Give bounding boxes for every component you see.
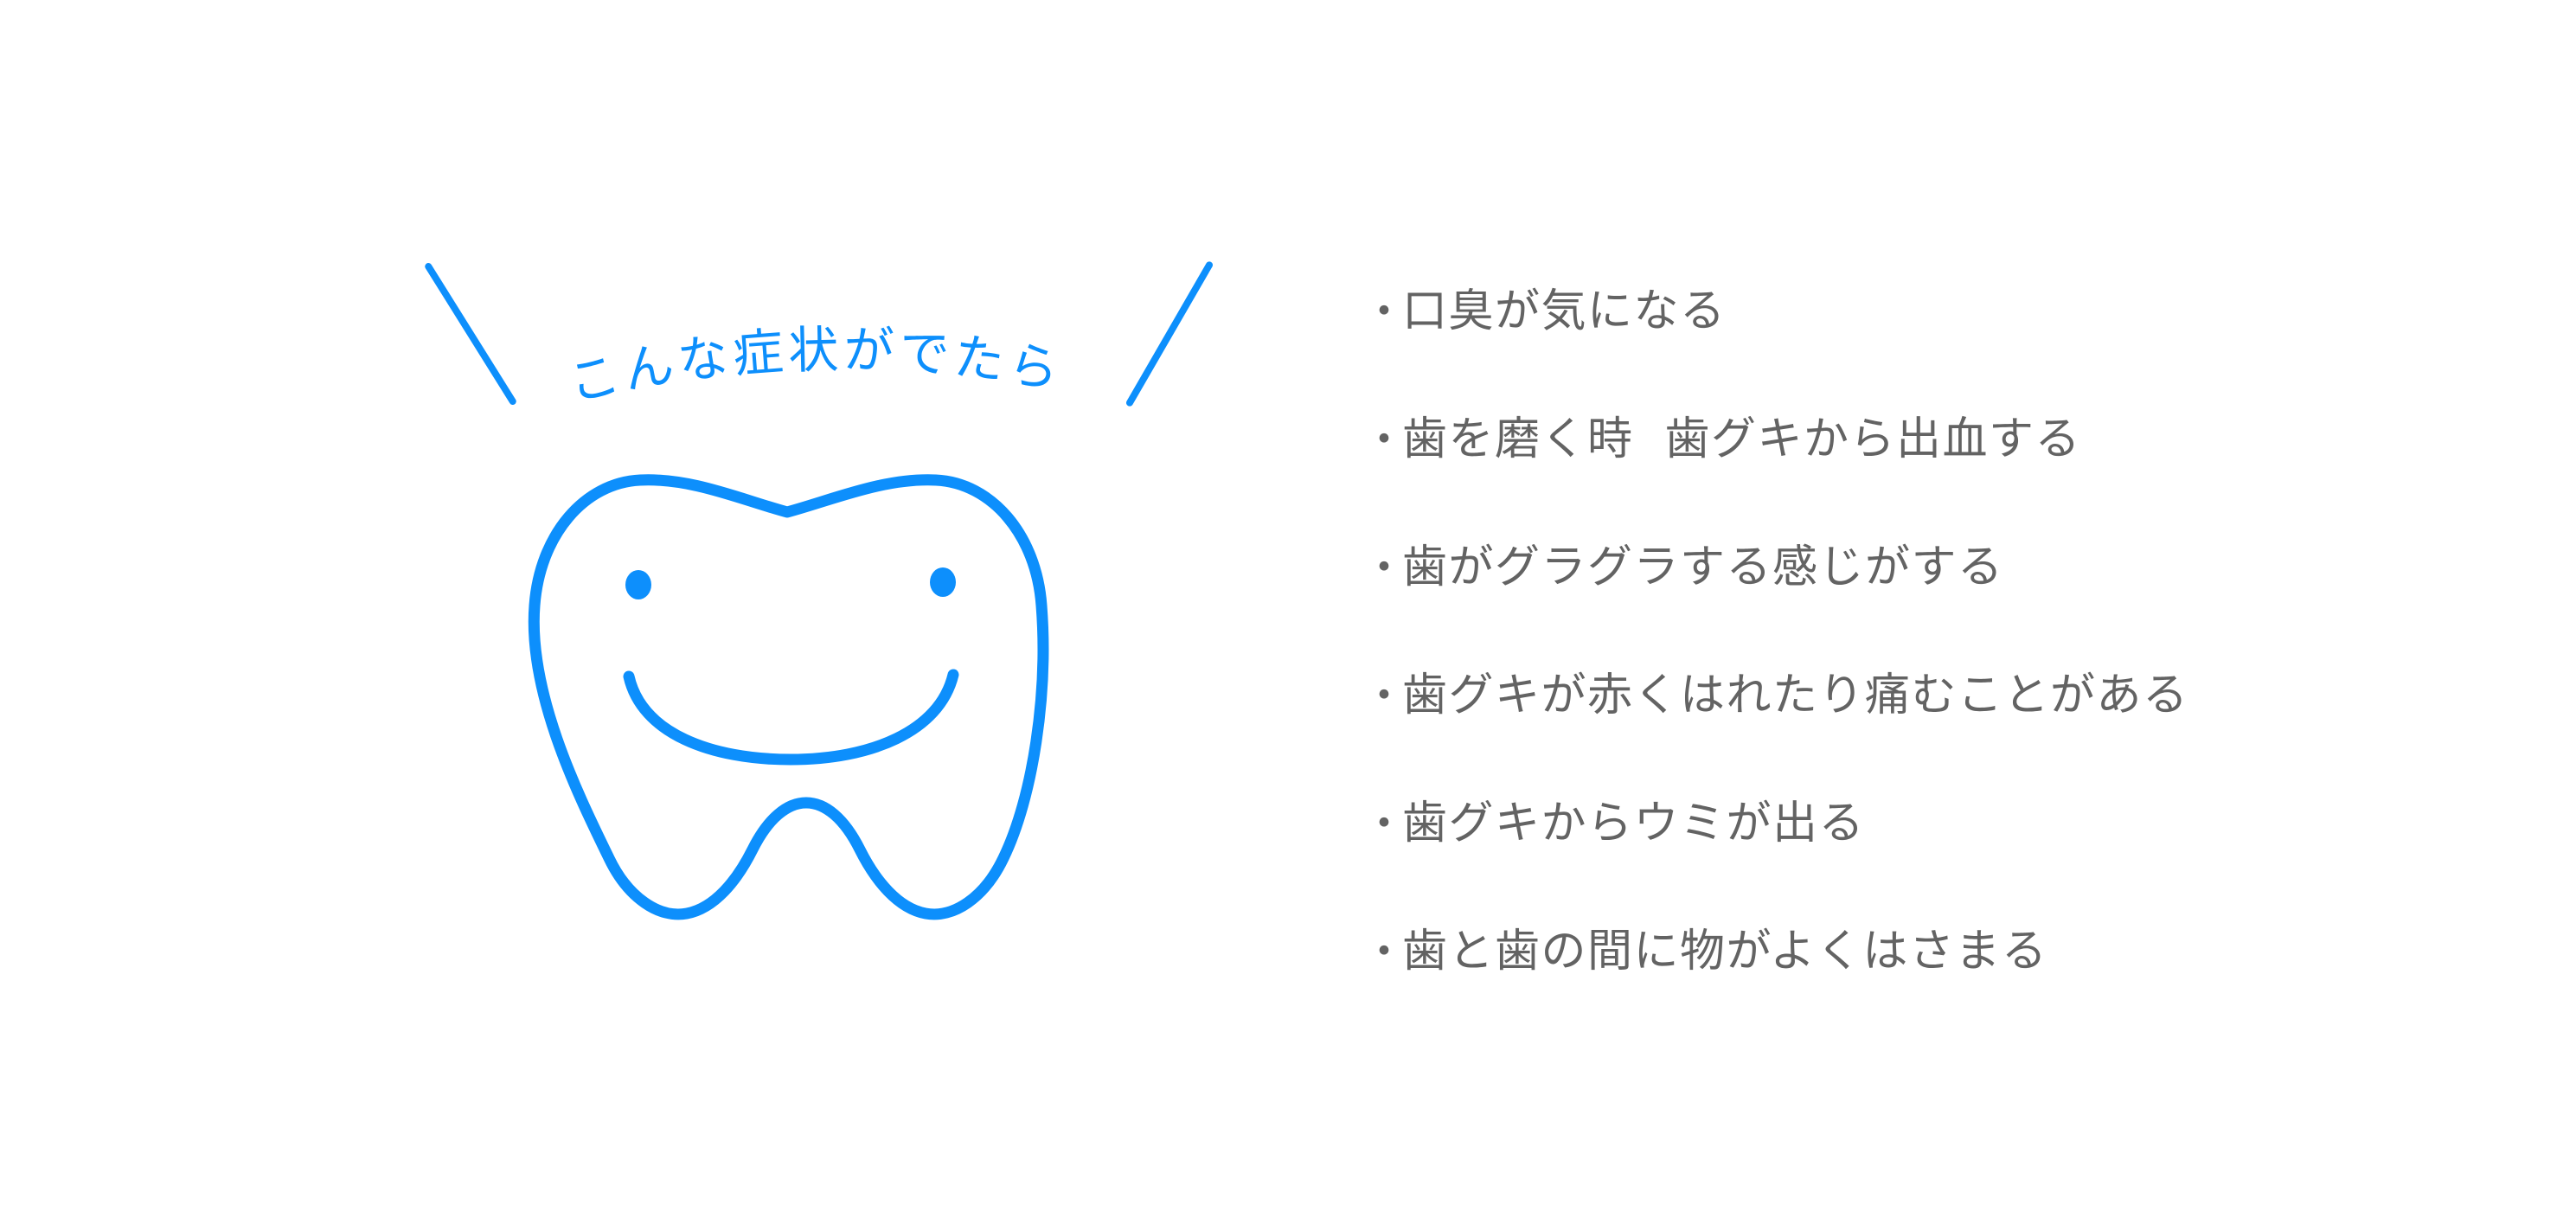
tooth-smile bbox=[629, 675, 953, 760]
tooth-illustration bbox=[510, 458, 1090, 943]
symptom-text: 歯を磨く時 歯グキから出血する bbox=[1402, 417, 2513, 462]
list-item: ・ 歯グキからウミが出る bbox=[1362, 760, 2513, 888]
page-title: こんな症状がでたら bbox=[563, 320, 1068, 413]
tooth-svg bbox=[510, 458, 1090, 943]
tooth-outline-path bbox=[534, 480, 1043, 914]
heading-arc-svg: こんな症状がでたら bbox=[363, 234, 1246, 450]
symptom-text: 歯と歯の間に物がよくはさまる bbox=[1402, 929, 2513, 974]
illustration-panel: こんな症状がでたら bbox=[0, 0, 1298, 1205]
left-slash-decoration bbox=[424, 261, 518, 406]
page-root: こんな症状がでたら ・ 口臭が気になる ・ 歯を bbox=[0, 0, 2576, 1205]
symptom-list: ・ 口臭が気になる ・ 歯を磨く時 歯グキから出血する ・ 歯がグラグラする感じ… bbox=[1362, 247, 2513, 1016]
symptom-text: 歯がグラグラする感じがする bbox=[1402, 545, 2513, 590]
heading-block: こんな症状がでたら bbox=[363, 234, 1246, 450]
list-item: ・ 歯がグラグラする感じがする bbox=[1362, 503, 2513, 631]
list-bullet-icon: ・ bbox=[1362, 802, 1402, 845]
list-item: ・ 歯グキが赤くはれたり痛むことがある bbox=[1362, 631, 2513, 760]
list-bullet-icon: ・ bbox=[1362, 674, 1402, 717]
list-item: ・ 歯を磨く時 歯グキから出血する bbox=[1362, 375, 2513, 503]
tooth-left-eye bbox=[625, 570, 651, 599]
symptom-text: 歯グキからウミが出る bbox=[1402, 801, 2513, 846]
symptom-text: 口臭が気になる bbox=[1402, 289, 2513, 334]
list-bullet-icon: ・ bbox=[1362, 930, 1402, 973]
list-item: ・ 歯と歯の間に物がよくはさまる bbox=[1362, 888, 2513, 1016]
list-bullet-icon: ・ bbox=[1362, 418, 1402, 461]
right-slash-decoration bbox=[1125, 260, 1214, 407]
tooth-right-eye bbox=[930, 567, 956, 597]
list-bullet-icon: ・ bbox=[1362, 290, 1402, 333]
list-bullet-icon: ・ bbox=[1362, 546, 1402, 589]
page-title-textpath: こんな症状がでたら bbox=[563, 320, 1068, 413]
list-item: ・ 口臭が気になる bbox=[1362, 247, 2513, 375]
symptom-text: 歯グキが赤くはれたり痛むことがある bbox=[1402, 673, 2513, 718]
